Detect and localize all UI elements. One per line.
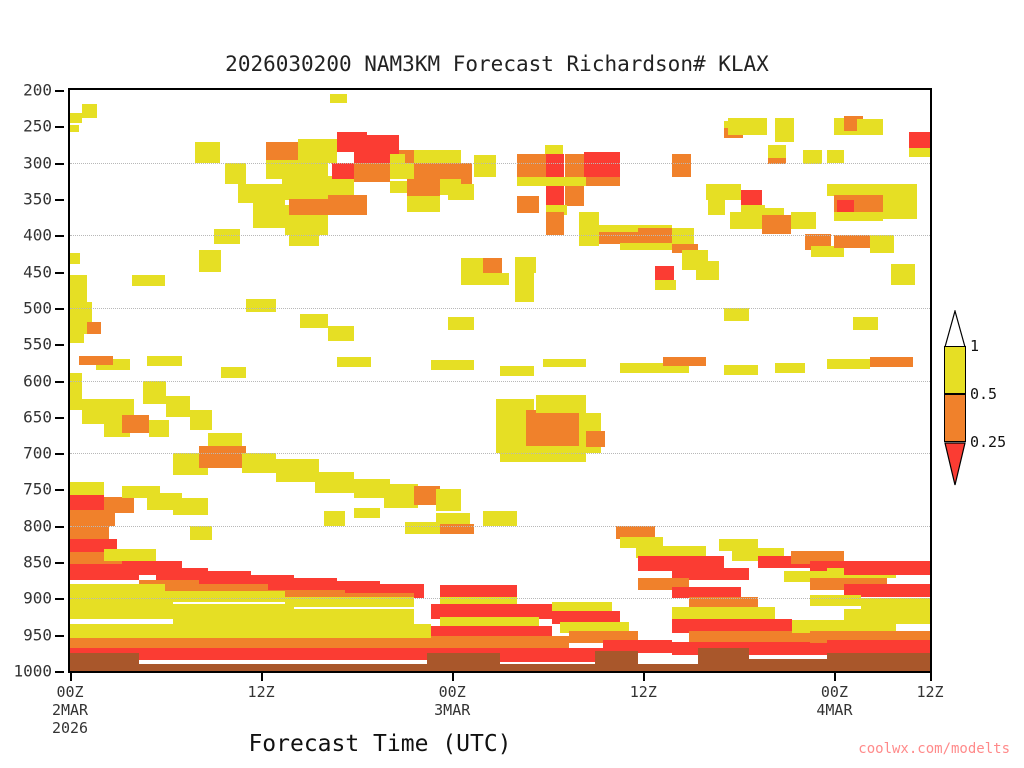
- y-axis-label: 350: [23, 189, 52, 208]
- y-axis-tick: [55, 562, 64, 564]
- terrain-fill: [427, 653, 500, 671]
- gridline: [70, 235, 930, 237]
- heatmap-cell: [448, 317, 474, 330]
- heatmap-cell: [536, 395, 586, 413]
- heatmap-cell: [195, 142, 221, 162]
- terrain-fill: [500, 664, 595, 671]
- y-axis-label: 550: [23, 335, 52, 354]
- y-axis-label: 1000: [13, 662, 52, 681]
- plot-area: [68, 88, 932, 673]
- heatmap-cell: [517, 196, 539, 213]
- heatmap-cell: [300, 314, 328, 329]
- y-axis-label: 950: [23, 625, 52, 644]
- heatmap-cell: [324, 511, 346, 526]
- heatmap-cell: [266, 142, 298, 161]
- heatmap-cell: [337, 132, 367, 152]
- page-title: 2026030200 NAM3KM Forecast Richardson# K…: [0, 52, 1024, 76]
- heatmap-cell: [791, 212, 817, 229]
- x-axis-label: 12Z: [916, 683, 943, 701]
- heatmap-cell: [834, 212, 883, 221]
- heatmap-cell: [199, 250, 221, 272]
- heatmap-cell: [390, 154, 405, 163]
- y-axis-label: 750: [23, 480, 52, 499]
- gridline: [70, 453, 930, 455]
- heatmap-cell: [620, 243, 672, 250]
- gridline: [70, 526, 930, 528]
- heatmap-cell: [436, 489, 462, 511]
- y-axis-label: 200: [23, 81, 52, 100]
- y-axis-label: 450: [23, 262, 52, 281]
- heatmap-cell: [431, 360, 474, 370]
- y-axis-tick: [55, 417, 64, 419]
- y-axis-tick: [55, 163, 64, 165]
- x-axis-tick: [930, 673, 932, 681]
- y-axis-tick: [55, 489, 64, 491]
- heatmap-cell: [242, 453, 276, 473]
- y-axis-tick: [55, 526, 64, 528]
- gridline: [70, 163, 930, 165]
- heatmap-cell: [173, 604, 293, 624]
- heatmap-cell: [173, 498, 207, 515]
- heatmap-cell: [332, 163, 354, 179]
- terrain-fill: [749, 659, 826, 671]
- x-axis-tick: [70, 673, 72, 681]
- heatmap-cell: [414, 150, 461, 163]
- heatmap-cell: [909, 132, 931, 149]
- y-axis-tick: [55, 308, 64, 310]
- heatmap-cell: [104, 549, 156, 561]
- heatmap-cell: [837, 200, 854, 212]
- heatmap-cell: [70, 302, 92, 322]
- heatmap-cell: [276, 459, 319, 482]
- heatmap-cell: [104, 497, 134, 513]
- y-axis-tick: [55, 126, 64, 128]
- x-axis-label: 12Z: [248, 683, 275, 701]
- heatmap-cell: [354, 163, 390, 182]
- y-axis-label: 850: [23, 553, 52, 572]
- x-axis-tick: [261, 673, 263, 681]
- y-axis-label: 650: [23, 407, 52, 426]
- x-axis-label-line: 00Z: [816, 683, 852, 701]
- heatmap-cell: [149, 420, 169, 437]
- y-axis-label: 500: [23, 298, 52, 317]
- x-axis-label-line: 00Z: [52, 683, 88, 701]
- x-axis-label-line: 12Z: [248, 683, 275, 701]
- colorbar: 10.50.25: [940, 310, 1024, 480]
- heatmap-cell: [655, 280, 677, 289]
- heatmap-cell: [166, 396, 190, 416]
- heatmap-cell: [70, 125, 79, 132]
- heatmap-cell: [586, 177, 620, 186]
- heatmap-cell: [586, 431, 605, 447]
- heatmap-cell: [330, 94, 347, 103]
- colorbar-tick-label: 0.5: [970, 385, 997, 403]
- plot-canvas: [70, 90, 930, 671]
- heatmap-cell: [500, 449, 586, 461]
- heatmap-cell: [282, 163, 328, 181]
- x-axis-label: 00Z4MAR: [816, 683, 852, 719]
- heatmap-cell: [315, 472, 354, 493]
- heatmap-cell: [728, 118, 767, 135]
- x-axis-label-line: 2MAR: [52, 701, 88, 719]
- heatmap-cell: [253, 205, 289, 228]
- heatmap-cell: [328, 326, 354, 341]
- heatmap-cell: [672, 154, 691, 177]
- heatmap-cell: [70, 334, 84, 343]
- x-axis-label-line: 4MAR: [816, 701, 852, 719]
- credit-link[interactable]: coolwx.com/modelts: [858, 741, 1010, 757]
- heatmap-cell: [289, 199, 328, 215]
- heatmap-cell: [762, 215, 790, 234]
- heatmap-cell: [70, 253, 80, 264]
- colorbar-over-arrow: [944, 310, 968, 348]
- heatmap-cell: [543, 359, 586, 368]
- heatmap-cell: [474, 155, 496, 177]
- x-axis-label-line: 12Z: [916, 683, 943, 701]
- heatmap-cell: [79, 356, 113, 365]
- heatmap-cell: [584, 152, 620, 179]
- heatmap-cell: [253, 184, 285, 206]
- x-axis-tick: [643, 673, 645, 681]
- heatmap-cell: [147, 356, 181, 366]
- heatmap-cell: [565, 154, 585, 179]
- y-axis-tick: [55, 453, 64, 455]
- x-axis-label-line: 12Z: [630, 683, 657, 701]
- heatmap-cell: [70, 584, 165, 599]
- heatmap-cell: [891, 264, 914, 284]
- x-axis-tick: [834, 673, 836, 681]
- x-axis-label-line: 00Z: [434, 683, 470, 701]
- heatmap-cell: [517, 177, 586, 186]
- colorbar-segment: [944, 394, 966, 442]
- heatmap-cell: [70, 113, 82, 122]
- gridline: [70, 308, 930, 310]
- heatmap-cell: [565, 186, 585, 206]
- y-axis-label: 250: [23, 117, 52, 136]
- terrain-fill: [638, 664, 698, 671]
- gridline: [70, 381, 930, 383]
- heatmap-cell: [827, 150, 844, 163]
- x-axis-tick: [452, 673, 454, 681]
- heatmap-cell: [517, 154, 545, 163]
- y-axis-label: 700: [23, 444, 52, 463]
- heatmap-cell: [844, 561, 930, 576]
- heatmap-cell: [82, 104, 97, 118]
- heatmap-cell: [354, 508, 380, 519]
- heatmap-cell: [448, 184, 474, 200]
- heatmap-cell: [143, 381, 166, 404]
- y-axis-label: 900: [23, 589, 52, 608]
- terrain-fill: [70, 653, 139, 671]
- heatmap-cell: [407, 196, 440, 212]
- heatmap-cell: [724, 365, 758, 375]
- heatmap-cell: [328, 88, 343, 90]
- heatmap-cell: [775, 363, 805, 373]
- heatmap-cell: [70, 598, 173, 618]
- y-axis-tick: [55, 344, 64, 346]
- heatmap-cell: [190, 526, 212, 541]
- heatmap-cell: [883, 184, 917, 219]
- y-axis-tick: [55, 199, 64, 201]
- heatmap-cell: [909, 148, 931, 157]
- heatmap-cell: [199, 446, 246, 468]
- y-axis-tick: [55, 635, 64, 637]
- heatmap-cell: [696, 261, 719, 281]
- x-axis-label: 00Z3MAR: [434, 683, 470, 719]
- y-axis-tick: [55, 598, 64, 600]
- x-axis-title: Forecast Time (UTC): [0, 731, 760, 757]
- heatmap-cell: [483, 511, 517, 526]
- heatmap-cell: [70, 373, 82, 409]
- y-axis-label: 600: [23, 371, 52, 390]
- heatmap-cell: [390, 181, 407, 193]
- heatmap-cell: [546, 212, 565, 235]
- heatmap-cell: [70, 322, 87, 334]
- heatmap-cell: [407, 179, 440, 198]
- gridline: [70, 598, 930, 600]
- terrain-fill: [698, 648, 750, 671]
- chart-root: 2026030200 NAM3KM Forecast Richardson# K…: [0, 0, 1024, 768]
- terrain-fill: [827, 653, 930, 671]
- heatmap-cell: [328, 195, 367, 215]
- x-axis-label-line: 3MAR: [434, 701, 470, 719]
- heatmap-cell: [282, 181, 328, 201]
- colorbar-tick-label: 0.25: [970, 433, 1006, 451]
- y-axis-label: 800: [23, 516, 52, 535]
- y-axis-tick: [55, 90, 64, 92]
- heatmap-cell: [190, 410, 212, 430]
- heatmap-cell: [405, 522, 439, 534]
- heatmap-cell: [132, 275, 165, 286]
- heatmap-cell: [663, 357, 706, 366]
- heatmap-cell: [545, 145, 563, 154]
- heatmap-cell: [526, 410, 579, 446]
- heatmap-cell: [857, 119, 883, 135]
- colorbar-tick-label: 1: [970, 337, 979, 355]
- x-axis-label: 00Z2MAR2026: [52, 683, 88, 737]
- heatmap-cell: [328, 176, 354, 196]
- y-axis-tick: [55, 235, 64, 237]
- x-axis-label: 12Z: [630, 683, 657, 701]
- heatmap-cell: [225, 163, 247, 185]
- y-axis-tick: [55, 671, 64, 673]
- heatmap-cell: [87, 322, 101, 334]
- heatmap-cell: [870, 357, 913, 367]
- heatmap-cell: [853, 317, 879, 330]
- colorbar-under-arrow: [944, 442, 968, 486]
- heatmap-cell: [708, 197, 725, 214]
- heatmap-cell: [546, 154, 565, 179]
- colorbar-segment: [944, 346, 966, 394]
- heatmap-cell: [221, 367, 247, 377]
- y-axis-tick: [55, 381, 64, 383]
- y-axis-label: 300: [23, 153, 52, 172]
- heatmap-cell: [870, 235, 894, 253]
- heatmap-cell: [827, 359, 870, 369]
- heatmap-cell: [298, 139, 337, 162]
- y-axis-tick: [55, 272, 64, 274]
- heatmap-cell: [500, 366, 534, 376]
- terrain-fill: [595, 651, 638, 671]
- heatmap-cell: [122, 415, 150, 432]
- y-axis-label: 400: [23, 226, 52, 245]
- heatmap-cell: [515, 272, 534, 303]
- x-axis-ticks: [68, 673, 932, 683]
- heatmap-cell: [70, 275, 87, 302]
- page-title-text: 2026030200 NAM3KM Forecast Richardson# K…: [225, 52, 769, 76]
- heatmap-cell: [461, 273, 508, 285]
- y-axis: 2002503003504004505005506006507007508008…: [0, 88, 64, 673]
- heatmap-cell: [546, 186, 565, 206]
- heatmap-cell: [775, 118, 794, 143]
- heatmap-cell: [337, 357, 371, 367]
- terrain-fill: [139, 664, 427, 671]
